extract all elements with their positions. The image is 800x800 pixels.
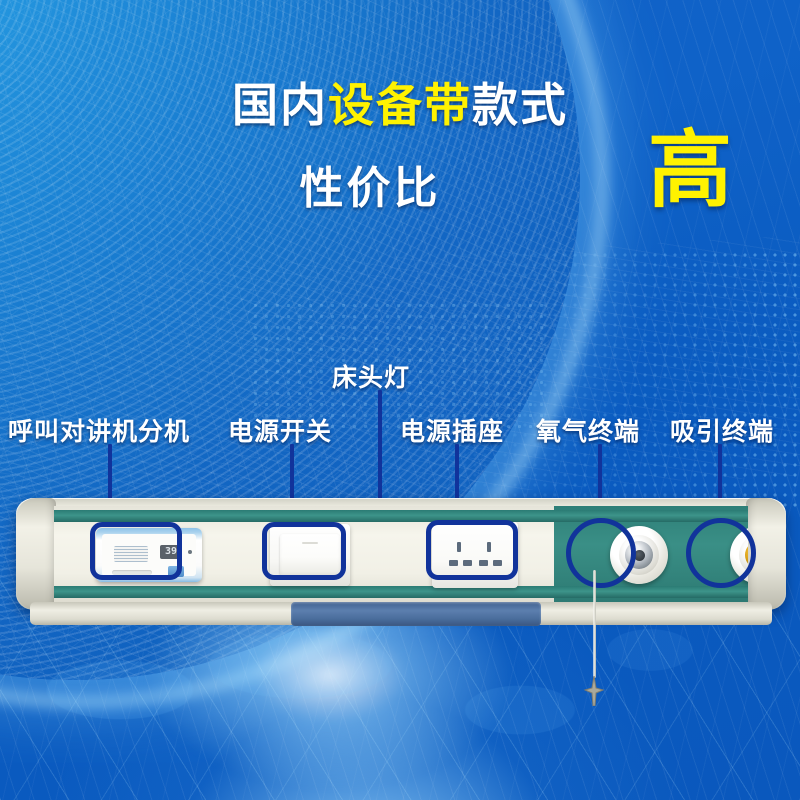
callout-label-power-switch: 电源开关 — [228, 412, 332, 448]
headline-emphasis: 高 — [648, 128, 732, 212]
status-led-icon — [188, 550, 192, 554]
highlight-box-intercom — [90, 522, 182, 580]
pull-cord-handle-icon[interactable] — [583, 676, 605, 706]
callout-label-bed-lamp: 床头灯 — [332, 358, 410, 394]
promo-banner: 国内设备带款式 性价比 高 呼叫对讲机分机 电源开关 床头灯 电源插座 氧气终端… — [0, 0, 800, 800]
highlight-circle-suction — [686, 518, 756, 588]
highlight-box-power-switch — [262, 522, 346, 580]
medical-bedhead-panel: 39 — [16, 498, 786, 626]
headline-line-2: 性价比 高 — [0, 150, 800, 224]
callout-label-suction: 吸引终端 — [670, 412, 774, 448]
pull-cord-line — [593, 570, 596, 678]
callout-label-power-socket: 电源插座 — [400, 412, 504, 448]
headline-subtitle: 性价比 — [300, 152, 441, 216]
headline-part-3: 款式 — [472, 79, 568, 131]
panel-stripe-bottom — [54, 586, 748, 598]
highlight-circle-oxygen — [566, 518, 636, 588]
headline-part-2: 设备带 — [328, 79, 472, 131]
headline-part-1: 国内 — [232, 79, 328, 131]
lamp-strip-icon[interactable] — [291, 602, 541, 626]
panel-stripe-top — [54, 510, 748, 522]
highlight-box-power-socket — [426, 520, 518, 580]
callout-label-oxygen: 氧气终端 — [536, 412, 640, 448]
panel-end-cap-left — [16, 498, 56, 610]
headline-line-1: 国内设备带款式 — [0, 82, 800, 128]
callout-label-intercom: 呼叫对讲机分机 — [8, 412, 190, 448]
headline-block: 国内设备带款式 性价比 高 — [0, 82, 800, 224]
